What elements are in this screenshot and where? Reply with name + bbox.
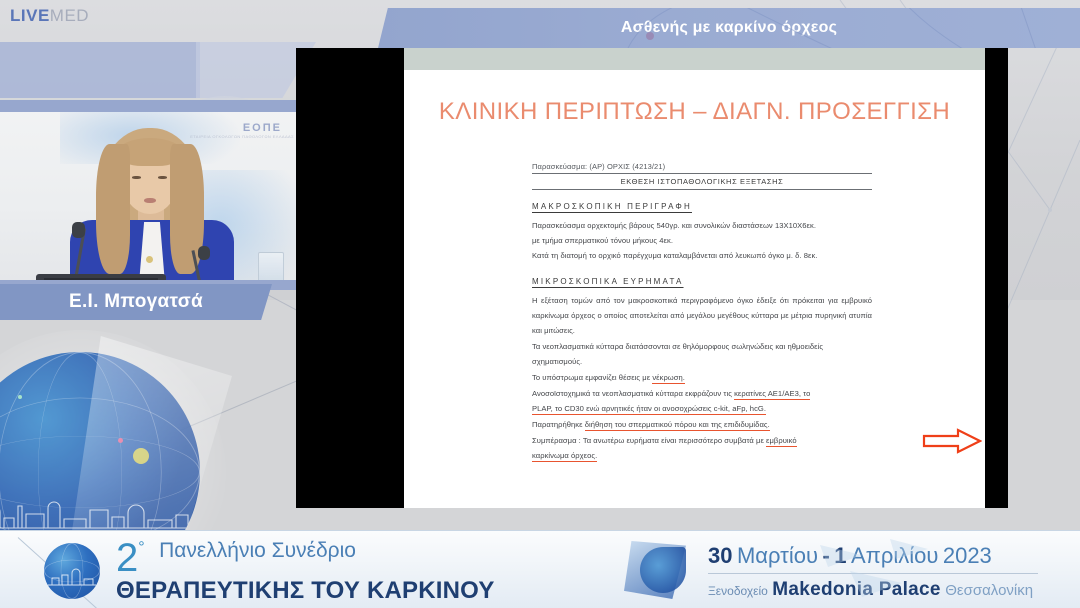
speaker-name-label: Ε.Ι. Μπογατσά xyxy=(69,291,203,313)
slide-canvas: ΚΛΙΝΙΚΗ ΠΕΡΙΠΤΩΣΗ – ΔΙΑΓΝ. ΠΡΟΣΕΓΓΙΣΗ Πα… xyxy=(404,48,985,508)
conclusion-line-2: καρκίνωμα όρχεος. xyxy=(532,448,872,463)
ihc-keratins-highlight: κερατίνες ΑΕ1/ΑΕ3, το xyxy=(734,389,810,400)
video-top-band xyxy=(0,100,300,112)
presentation-slide-stage[interactable]: ΚΛΙΝΙΚΗ ΠΕΡΙΠΤΩΣΗ – ΔΙΑΓΝ. ΠΡΟΣΕΓΓΙΣΗ Πα… xyxy=(296,48,1008,508)
venue-city: Θεσσαλονίκη xyxy=(945,582,1033,599)
microscopic-heading: ΜΙΚΡΟΣΚΟΠΙΚΑ ΕΥΡΗΜΑΤΑ xyxy=(532,277,872,286)
conference-line2: ΘΕΡΑΠΕΥΤΙΚΗΣ ΤΟΥ ΚΑΡΚΙΝΟΥ xyxy=(116,577,495,605)
speaker-mouth xyxy=(144,198,156,203)
macroscopic-line-3: Κατά τη διατομή το ορχικό παρέγχυμα κατα… xyxy=(532,248,872,263)
speaker-eye-right xyxy=(158,176,167,179)
conference-title-row: 2° Πανελλήνιο Συνέδριο xyxy=(116,539,495,577)
conclusion-highlight-1: εμβρυικό xyxy=(766,436,797,447)
venue-logo-accent xyxy=(640,547,686,593)
logo-live-text: LIVE xyxy=(10,6,50,25)
conclusion-prefix: Συμπέρασμα : Τα ανωτέρω ευρήματα είναι π… xyxy=(532,436,766,445)
macroscopic-heading: ΜΑΚΡΟΣΚΟΠΙΚΗ ΠΕΡΙΓΡΑΦΗ xyxy=(532,202,872,211)
slide-title: ΚΛΙΝΙΚΗ ΠΕΡΙΠΤΩΣΗ – ΔΙΑΓΝ. ΠΡΟΣΕΓΓΙΣΗ xyxy=(404,98,985,126)
report-document-title: ΕΚΘΕΣΗ ΙΣΤΟΠΑΘΟΛΟΓΙΚΗΣ ΕΞΕΤΑΣΗΣ xyxy=(532,177,872,189)
conference-footer-bar: 2° Πανελλήνιο Συνέδριο ΘΕΡΑΠΕΥΤΙΚΗΣ ΤΟΥ … xyxy=(0,530,1080,608)
ihc-line-2: PLAP, το CD30 ενώ αρνητικές ήταν οι ανοσ… xyxy=(532,401,872,416)
globe-dot xyxy=(18,395,22,399)
conference-edition-number: 2 xyxy=(116,539,138,577)
conference-line1: Πανελλήνιο Συνέδριο xyxy=(159,539,356,563)
eope-logo-subtitle: ΕΤΑΙΡΕΙΑ ΟΓΚΟΛΟΓΩΝ ΠΑΘΟΛΟΓΩΝ ΕΛΛΑΔΑΣ xyxy=(190,134,294,139)
infiltration-line: Παρατηρήθηκε διήθηση του σπερματικού πόρ… xyxy=(532,417,872,432)
conclusion-line-1: Συμπέρασμα : Τα ανωτέρω ευρήματα είναι π… xyxy=(532,433,872,448)
banner-decorative-arcs xyxy=(378,8,1080,48)
date-month-start: Μαρτίου xyxy=(737,543,818,568)
microscopic-paragraph-1: Η εξέταση τομών από τον μακροσκοπικά περ… xyxy=(532,293,872,338)
microscopic-paragraph-3: Το υπόστρωμα εμφανίζει θέσεις με νέκρωση… xyxy=(532,370,872,385)
venue-label: Ξενοδοχείο xyxy=(708,584,768,598)
report-specimen-line: Παρασκεύασμα: (ΑΡ) ΟΡΧΙΣ (4213/21) xyxy=(532,162,872,171)
decorative-shapes xyxy=(810,537,930,603)
macroscopic-line-1: Παρασκεύασμα ορχεκτομής βάρους 540γρ. κα… xyxy=(532,218,872,233)
eope-logo: ΕΟΠΕ xyxy=(243,122,282,134)
microscopic-paragraph-2: Τα νεοπλασματικά κύτταρα διατάσσονται σε… xyxy=(532,339,872,369)
speaker-hair-front-left xyxy=(96,144,130,274)
conference-globe-logo xyxy=(44,543,100,599)
infiltration-highlight: διήθηση του σπερματικού πόρου και της επ… xyxy=(585,420,770,431)
letterbox-bar-left xyxy=(296,48,404,508)
necrosis-highlight: νέκρωση. xyxy=(652,373,685,384)
logo-med-text: MED xyxy=(50,6,89,25)
conference-edition-degree: ° xyxy=(138,539,144,556)
speaker-brooch xyxy=(146,256,153,263)
speaker-video-feed[interactable]: ΕΟΠΕ ΕΤΑΙΡΕΙΑ ΟΓΚΟΛΟΓΩΝ ΠΑΘΟΛΟΓΩΝ ΕΛΛΑΔΑ… xyxy=(0,100,300,290)
red-right-arrow-icon xyxy=(922,428,982,454)
macroscopic-line-2: με τμήμα σπερματικού τόνου μήκους 4εκ. xyxy=(532,233,872,248)
report-rule-bottom xyxy=(532,189,872,190)
microphone-icon-left xyxy=(72,222,85,238)
conference-logistics-block: 30 Μαρτίου - 1 Απριλίου 2023 Ξενοδοχείο … xyxy=(600,531,1080,608)
conference-identity-block: 2° Πανελλήνιο Συνέδριο ΘΕΡΑΠΕΥΤΙΚΗΣ ΤΟΥ … xyxy=(0,531,600,608)
date-year: 2023 xyxy=(943,543,992,568)
slide-top-strip xyxy=(404,48,985,70)
speaker-eye-left xyxy=(132,176,141,179)
livemed-logo: LIVEMED xyxy=(10,6,89,26)
conclusion-highlight-2: καρκίνωμα όρχεος. xyxy=(532,451,597,462)
pathology-report: Παρασκεύασμα: (ΑΡ) ΟΡΧΙΣ (4213/21) ΕΚΘΕΣ… xyxy=(532,162,872,463)
report-rule-top xyxy=(532,173,872,174)
letterbox-bar-right xyxy=(985,48,1008,508)
ihc-line-1-prefix: Ανοσοϊστοχημικά τα νεοπλασματικά κύτταρα… xyxy=(532,389,734,398)
ihc-markers-highlight: PLAP, το CD30 ενώ αρνητικές ήταν οι ανοσ… xyxy=(532,404,766,415)
infiltration-prefix: Παρατηρήθηκε xyxy=(532,420,585,429)
background-shape-blue-bar xyxy=(0,42,200,98)
speaker-nameplate: Ε.Ι. Μπογατσά xyxy=(0,284,272,320)
date-day-start: 30 xyxy=(708,543,732,568)
ihc-line-1: Ανοσοϊστοχημικά τα νεοπλασματικά κύτταρα… xyxy=(532,386,872,401)
conference-title-block: 2° Πανελλήνιο Συνέδριο ΘΕΡΑΠΕΥΤΙΚΗΣ ΤΟΥ … xyxy=(116,539,495,605)
session-title-banner: Ασθενής με καρκίνο όρχεος xyxy=(378,8,1080,48)
globe-skyline-small-icon xyxy=(44,543,100,599)
microphone-icon-right xyxy=(198,246,210,260)
necrosis-line-prefix: Το υπόστρωμα εμφανίζει θέσεις με xyxy=(532,373,652,382)
